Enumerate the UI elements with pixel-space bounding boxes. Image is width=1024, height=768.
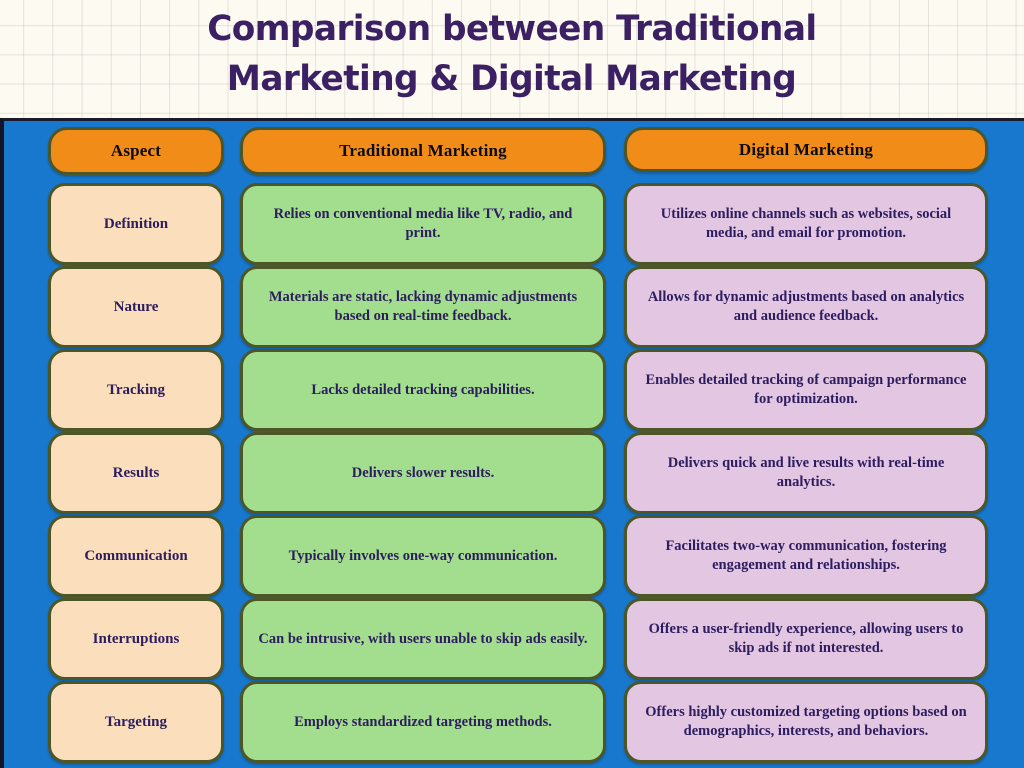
cell-digital-text: Offers a user-friendly experience, allow…: [639, 620, 973, 658]
cell-digital-text: Utilizes online channels such as website…: [639, 205, 973, 243]
table-row: Results Delivers slower results. Deliver…: [48, 432, 988, 514]
table-row: Targeting Employs standardized targeting…: [48, 681, 988, 763]
cell-aspect-label: Nature: [114, 299, 159, 316]
cell-traditional-text: Materials are static, lacking dynamic ad…: [255, 288, 591, 326]
cell-digital-text: Enables detailed tracking of campaign pe…: [639, 371, 973, 409]
header-cell-traditional-marketing: Traditional Marketing: [240, 127, 606, 175]
cell-aspect: Interruptions: [48, 598, 224, 680]
cell-traditional-text: Can be intrusive, with users unable to s…: [258, 630, 587, 649]
cell-digital-text: Allows for dynamic adjustments based on …: [639, 288, 973, 326]
cell-traditional: Employs standardized targeting methods.: [240, 681, 606, 763]
table-row: Interruptions Can be intrusive, with use…: [48, 598, 988, 680]
page-title: Comparison between Traditional Marketing…: [0, 4, 1024, 114]
infographic-page: Comparison between Traditional Marketing…: [0, 0, 1024, 768]
cell-traditional-text: Delivers slower results.: [352, 464, 494, 483]
cell-aspect: Targeting: [48, 681, 224, 763]
cell-traditional: Relies on conventional media like TV, ra…: [240, 183, 606, 265]
cell-digital: Delivers quick and live results with rea…: [624, 432, 988, 514]
cell-aspect-label: Definition: [104, 216, 168, 233]
header-label-traditional-marketing: Traditional Marketing: [339, 141, 507, 161]
cell-aspect: Results: [48, 432, 224, 514]
cell-aspect-label: Results: [113, 465, 160, 482]
header-label-digital-marketing: Digital Marketing: [739, 140, 873, 160]
cell-traditional: Typically involves one-way communication…: [240, 515, 606, 597]
cell-traditional-text: Employs standardized targeting methods.: [294, 713, 552, 732]
header-label-aspect: Aspect: [111, 141, 161, 161]
cell-aspect-label: Tracking: [107, 382, 165, 399]
cell-digital: Offers highly customized targeting optio…: [624, 681, 988, 763]
table-row: Definition Relies on conventional media …: [48, 183, 988, 265]
cell-aspect: Tracking: [48, 349, 224, 431]
cell-digital: Allows for dynamic adjustments based on …: [624, 266, 988, 348]
cell-digital-text: Offers highly customized targeting optio…: [639, 703, 973, 741]
cell-traditional: Materials are static, lacking dynamic ad…: [240, 266, 606, 348]
table-header-row: Aspect Traditional Marketing Digital Mar…: [48, 127, 988, 175]
cell-digital-text: Delivers quick and live results with rea…: [639, 454, 973, 492]
cell-traditional-text: Relies on conventional media like TV, ra…: [255, 205, 591, 243]
cell-digital: Facilitates two-way communication, foste…: [624, 515, 988, 597]
header-cell-digital-marketing: Digital Marketing: [624, 127, 988, 172]
page-title-line-1: Comparison between Traditional: [207, 4, 816, 54]
cell-aspect-label: Communication: [84, 548, 187, 565]
cell-digital: Utilizes online channels such as website…: [624, 183, 988, 265]
cell-aspect: Communication: [48, 515, 224, 597]
cell-aspect-label: Targeting: [105, 714, 167, 731]
cell-traditional: Can be intrusive, with users unable to s…: [240, 598, 606, 680]
table-row: Nature Materials are static, lacking dyn…: [48, 266, 988, 348]
cell-digital-text: Facilitates two-way communication, foste…: [639, 537, 973, 575]
table-row: Communication Typically involves one-way…: [48, 515, 988, 597]
cell-aspect: Nature: [48, 266, 224, 348]
cell-aspect-label: Interruptions: [93, 631, 180, 648]
header-cell-aspect: Aspect: [48, 127, 224, 175]
comparison-board: Aspect Traditional Marketing Digital Mar…: [0, 118, 1024, 768]
cell-aspect: Definition: [48, 183, 224, 265]
cell-traditional-text: Typically involves one-way communication…: [289, 547, 558, 566]
cell-traditional-text: Lacks detailed tracking capabilities.: [311, 381, 534, 400]
page-title-line-2: Marketing & Digital Marketing: [227, 54, 796, 104]
table-row: Tracking Lacks detailed tracking capabil…: [48, 349, 988, 431]
cell-digital: Enables detailed tracking of campaign pe…: [624, 349, 988, 431]
cell-traditional: Delivers slower results.: [240, 432, 606, 514]
cell-traditional: Lacks detailed tracking capabilities.: [240, 349, 606, 431]
cell-digital: Offers a user-friendly experience, allow…: [624, 598, 988, 680]
comparison-table: Aspect Traditional Marketing Digital Mar…: [48, 127, 988, 764]
